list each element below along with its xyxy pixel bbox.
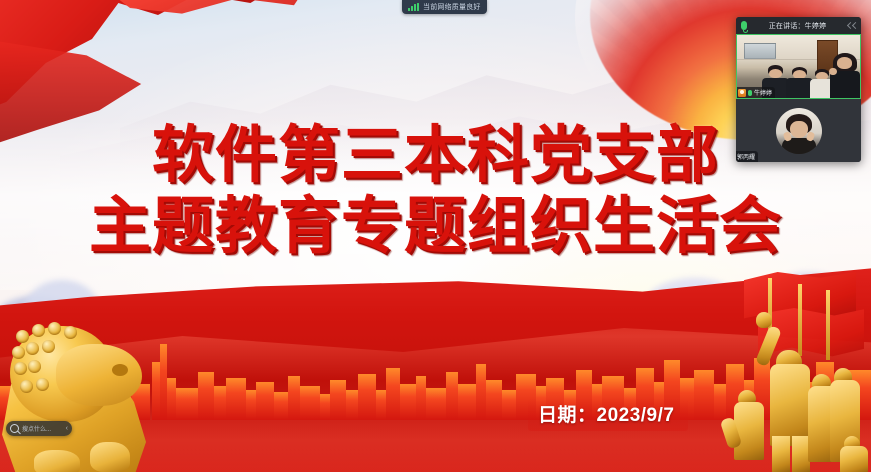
network-quality-label: 当前网络质量良好 [423, 2, 481, 12]
search-input[interactable]: 搜点什么... [22, 424, 63, 433]
floating-search-widget[interactable]: 搜点什么... ‹ [6, 421, 72, 436]
monument-leg-left [772, 436, 790, 472]
monument-raised-hand [756, 312, 772, 328]
golden-lion-statue [0, 300, 184, 472]
video-conference-panel[interactable]: 正在讲话：牛婷婷 [736, 17, 861, 162]
host-icon [738, 89, 746, 97]
search-icon [10, 424, 19, 433]
video-panel-header: 正在讲话：牛婷婷 [736, 17, 861, 34]
microphone-icon [741, 21, 747, 30]
participant-name: 郭丙耀 [737, 152, 755, 161]
avatar-tile-nametag: 郭丙耀 [736, 151, 758, 162]
double-chevron-right-icon[interactable] [848, 23, 858, 28]
active-speaker-label: 正在讲话：牛婷婷 [751, 21, 844, 31]
signal-bars-icon [408, 3, 419, 11]
heroic-monument-sculpture [722, 268, 871, 472]
participant-figure-speaking [830, 53, 860, 98]
network-quality-indicator[interactable]: 当前网络质量良好 [402, 0, 487, 14]
avatar [776, 108, 822, 154]
participant-name: 牛婷婷 [754, 88, 772, 97]
video-tile-camera[interactable]: 牛婷婷 [736, 34, 861, 99]
video-tile-avatar[interactable]: 郭丙耀 [736, 99, 861, 162]
chevron-left-icon[interactable]: ‹ [66, 425, 68, 432]
presentation-screen: 软件第三本科党支部 主题教育专题组织生活会 日期：2023/9/7 当前网络质量… [0, 0, 871, 472]
video-tile-nametag: 牛婷婷 [737, 87, 775, 98]
slide-date: 日期：2023/9/7 [528, 398, 688, 431]
microphone-icon [748, 90, 752, 96]
monument-torso [770, 364, 810, 446]
